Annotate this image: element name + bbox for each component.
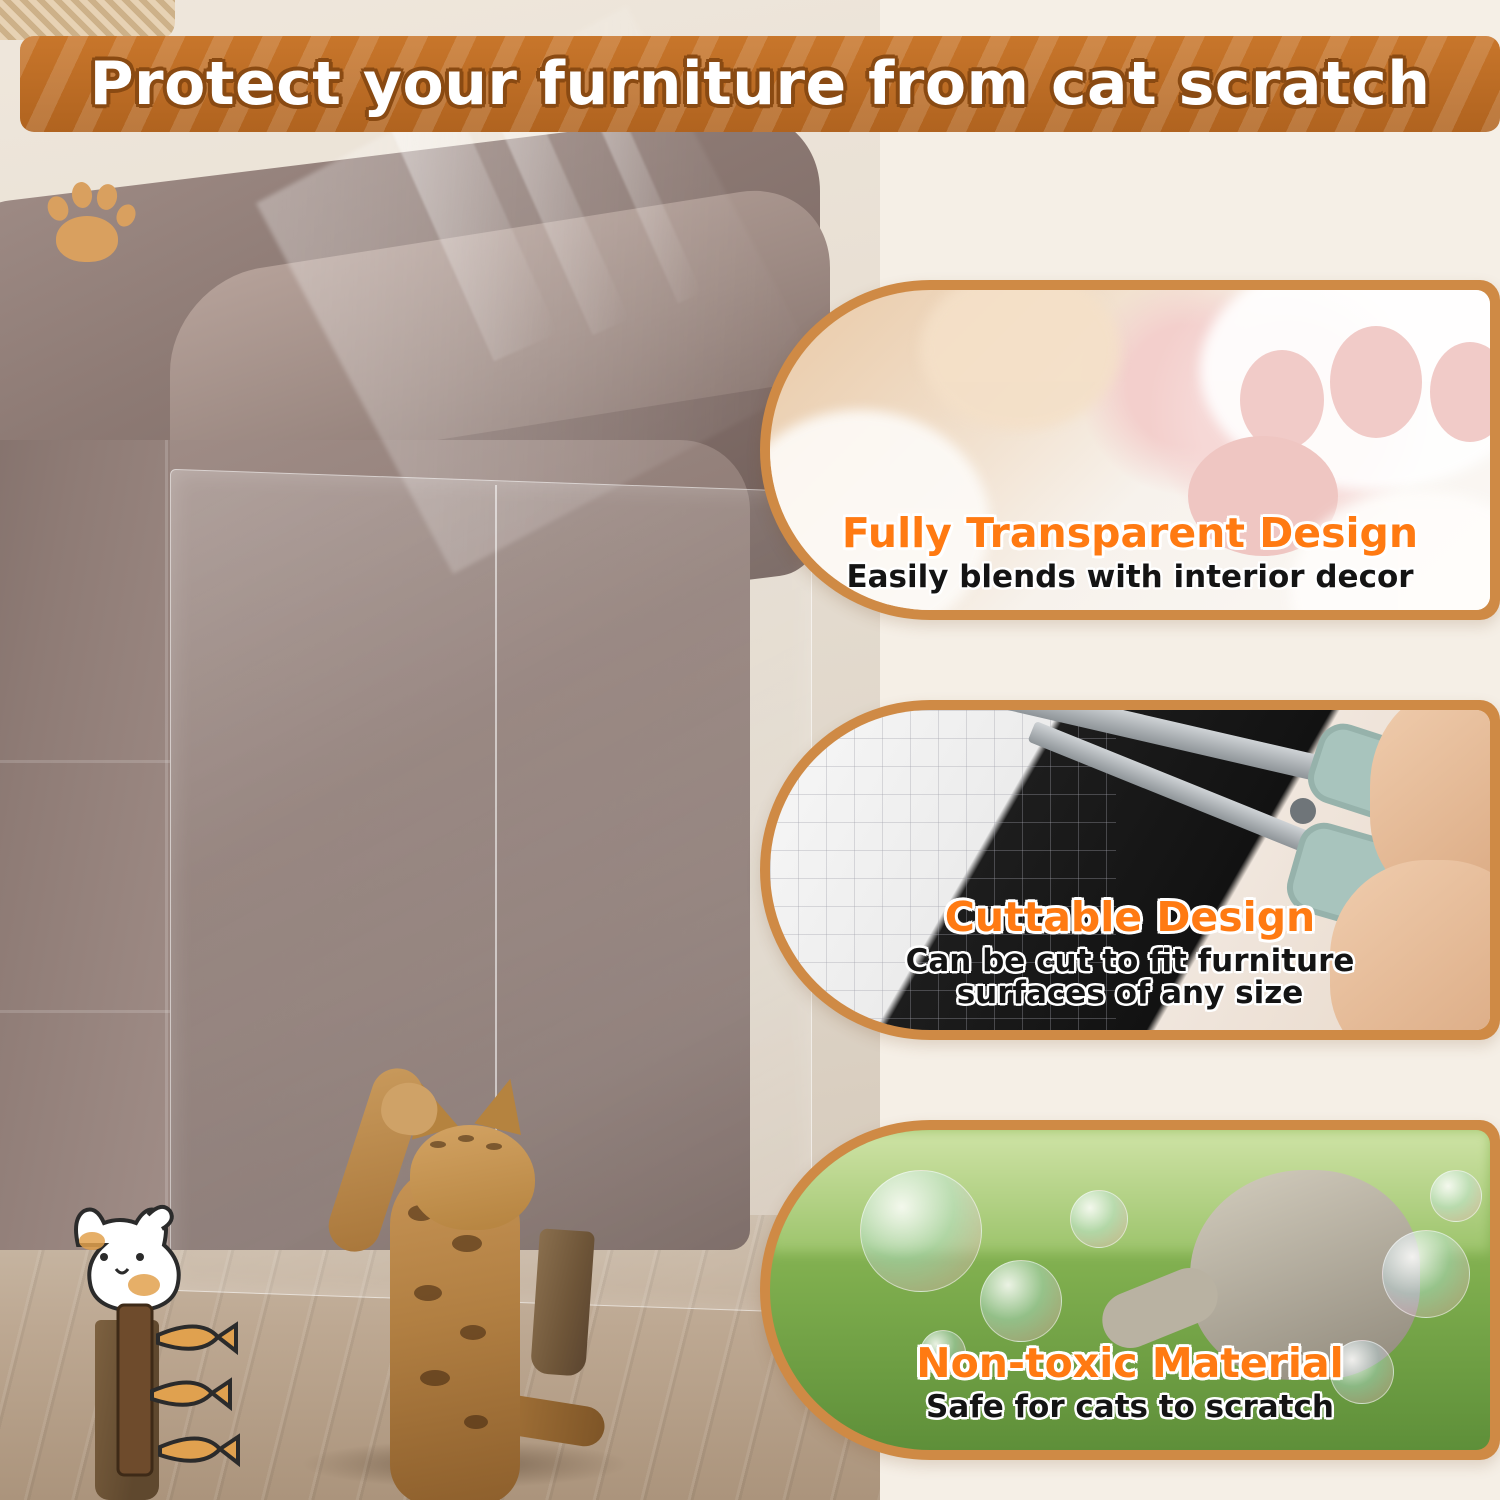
- sofa-seam: [0, 1010, 170, 1013]
- page-title: Protect your furniture from cat scratch: [20, 49, 1500, 119]
- paw-print-icon: [42, 178, 134, 266]
- card-headline: Cuttable Design: [770, 893, 1490, 941]
- bengal-cat: [330, 1020, 630, 1500]
- card-headline: Non-toxic Material: [770, 1339, 1490, 1387]
- card-subtext: Easily blends with interior decor: [770, 561, 1490, 594]
- card-text-block: Fully Transparent Design Easily blends w…: [770, 509, 1490, 610]
- title-banner: Protect your furniture from cat scratch: [20, 36, 1500, 132]
- sofa-seam: [0, 760, 170, 763]
- card-subtext-line1: Can be cut to fit furniture: [770, 945, 1490, 978]
- card-text-block: Cuttable Design Can be cut to fit furnit…: [770, 893, 1490, 1026]
- card-headline: Fully Transparent Design: [770, 509, 1490, 557]
- sofa-seam: [165, 440, 168, 1250]
- feature-card-list: Fully Transparent Design Easily blends w…: [760, 280, 1500, 1460]
- card-subtext: Safe for cats to scratch: [770, 1391, 1490, 1424]
- feature-card-non-toxic[interactable]: Non-toxic Material Safe for cats to scra…: [760, 1120, 1500, 1460]
- sofa-armrest-edge: [0, 440, 170, 1250]
- card-text-block: Non-toxic Material Safe for cats to scra…: [770, 1339, 1490, 1440]
- cat-head: [410, 1125, 535, 1230]
- cartoon-cat-and-fish-doodle: [40, 1185, 270, 1485]
- card-subtext-line2: surfaces of any size: [770, 977, 1490, 1010]
- feature-card-cuttable[interactable]: Cuttable Design Can be cut to fit furnit…: [760, 700, 1500, 1040]
- feature-card-fully-transparent[interactable]: Fully Transparent Design Easily blends w…: [760, 280, 1500, 620]
- woven-basket-texture: [0, 0, 175, 40]
- product-infographic: Protect your furniture from cat scratch: [0, 0, 1500, 1500]
